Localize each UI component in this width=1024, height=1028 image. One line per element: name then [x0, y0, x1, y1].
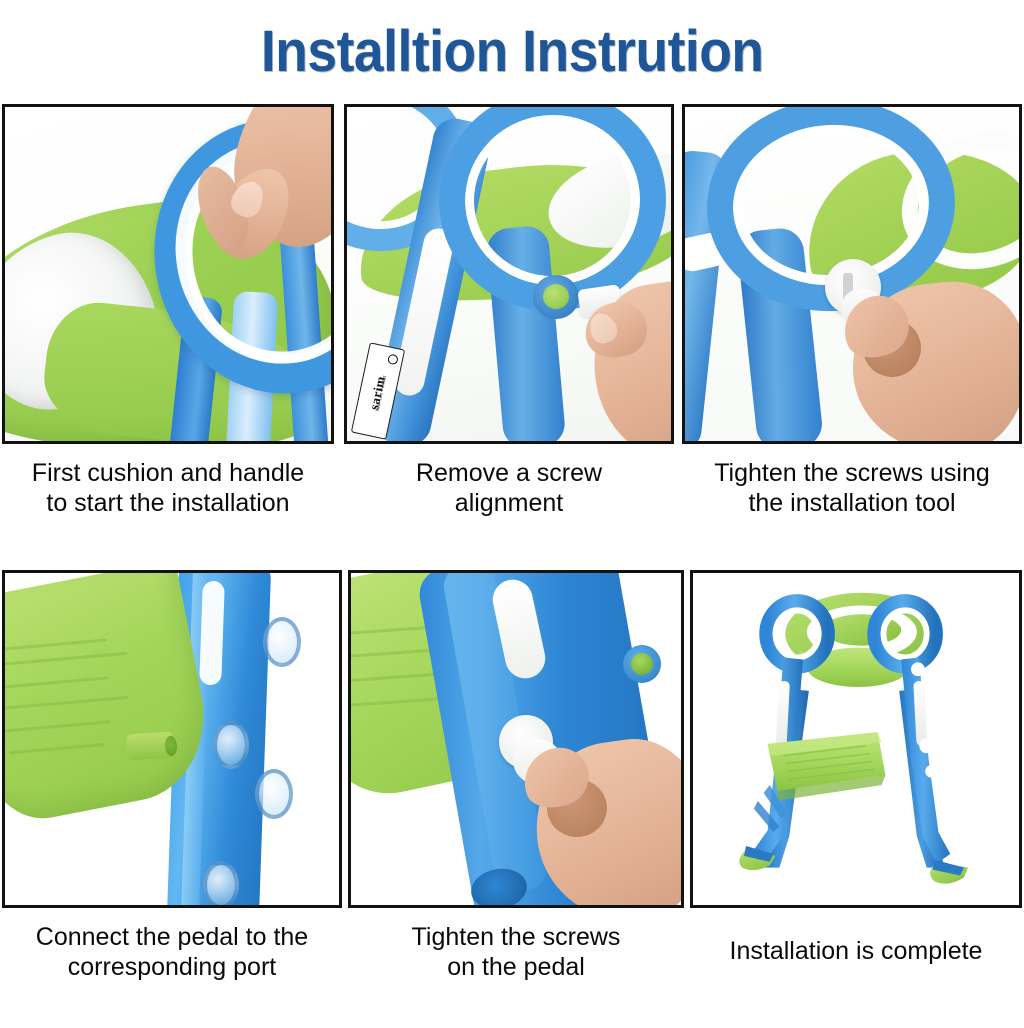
- caption-line-1: Remove a screw: [348, 458, 670, 488]
- caption-line-1: Tighten the screws using: [686, 458, 1018, 488]
- step-photo-2: sarim Your Life Perfect: [344, 104, 674, 444]
- pedal-ridge: [2, 696, 128, 711]
- screw-port-green: [631, 653, 653, 675]
- step-caption-1: First cushion and handle to start the in…: [2, 458, 334, 518]
- step-caption-5: Tighten the screws on the pedal: [348, 922, 684, 982]
- step-caption-2: Remove a screw alignment: [344, 458, 674, 518]
- poster-header: Installtion Instrution: [0, 8, 1024, 94]
- leg-hole-3: [255, 769, 293, 819]
- steps-row-bottom: Connect the pedal to the corresponding p…: [0, 570, 1024, 1028]
- leg-slot-top: [199, 581, 225, 686]
- step-caption-3: Tighten the screws using the installatio…: [682, 458, 1022, 518]
- pedal-ridge: [9, 743, 105, 754]
- step-photo-5: [348, 570, 684, 908]
- step-card-5: Tighten the screws on the pedal: [348, 570, 684, 908]
- step-caption-4: Connect the pedal to the corresponding p…: [2, 922, 342, 982]
- leg-hole-1: [263, 617, 301, 667]
- steps-grid: First cushion and handle to start the in…: [0, 104, 1024, 1028]
- step-card-4: Connect the pedal to the corresponding p…: [2, 570, 342, 908]
- leg-hole-2: [213, 721, 249, 769]
- step-card-6: Installation is complete: [690, 570, 1022, 908]
- step-photo-4: [2, 570, 342, 908]
- screw-knob-green: [543, 284, 569, 309]
- scene-connect-pedal: [5, 573, 339, 905]
- pedal-ridge: [2, 676, 108, 689]
- caption-line-1: Connect the pedal to the: [6, 922, 338, 952]
- caption-line-2: corresponding port: [6, 952, 338, 982]
- scene-tighten-tool: [685, 107, 1019, 441]
- caption-line-2: the installation tool: [686, 488, 1018, 518]
- page-title: Installtion Instrution: [261, 18, 764, 85]
- leg-hole-4: [203, 861, 239, 908]
- product-illustration: [693, 573, 1019, 905]
- pedal-ridge: [2, 638, 107, 652]
- caption-line-2: on the pedal: [352, 952, 680, 982]
- scene-tighten-pedal: [351, 573, 681, 905]
- step-photo-3: [682, 104, 1022, 444]
- step-card-1: First cushion and handle to start the in…: [2, 104, 334, 444]
- caption-line-1: First cushion and handle: [6, 458, 330, 488]
- step-photo-1: [2, 104, 334, 444]
- scene-assembled-product: [693, 573, 1019, 905]
- step-card-2: sarim Your Life Perfect Remove a screw a…: [344, 104, 674, 444]
- caption-line-2: to start the installation: [6, 488, 330, 518]
- scene-remove-screw: sarim Your Life Perfect: [347, 107, 671, 441]
- steps-row-top: First cushion and handle to start the in…: [0, 104, 1024, 566]
- step-caption-6: Installation is complete: [690, 936, 1022, 966]
- step-photo-6: [690, 570, 1022, 908]
- step-card-3: Tighten the screws using the installatio…: [682, 104, 1022, 444]
- scene-cushion-handle: [5, 107, 331, 441]
- caption-line-1: Tighten the screws: [352, 922, 680, 952]
- instruction-poster: Installtion Instrution: [0, 0, 1024, 1024]
- caption-line-2: alignment: [348, 488, 670, 518]
- caption-line-1: Installation is complete: [694, 936, 1018, 966]
- pedal-ridge: [2, 652, 128, 668]
- label-dot-icon: [387, 353, 399, 365]
- pedal-ridge: [2, 720, 111, 733]
